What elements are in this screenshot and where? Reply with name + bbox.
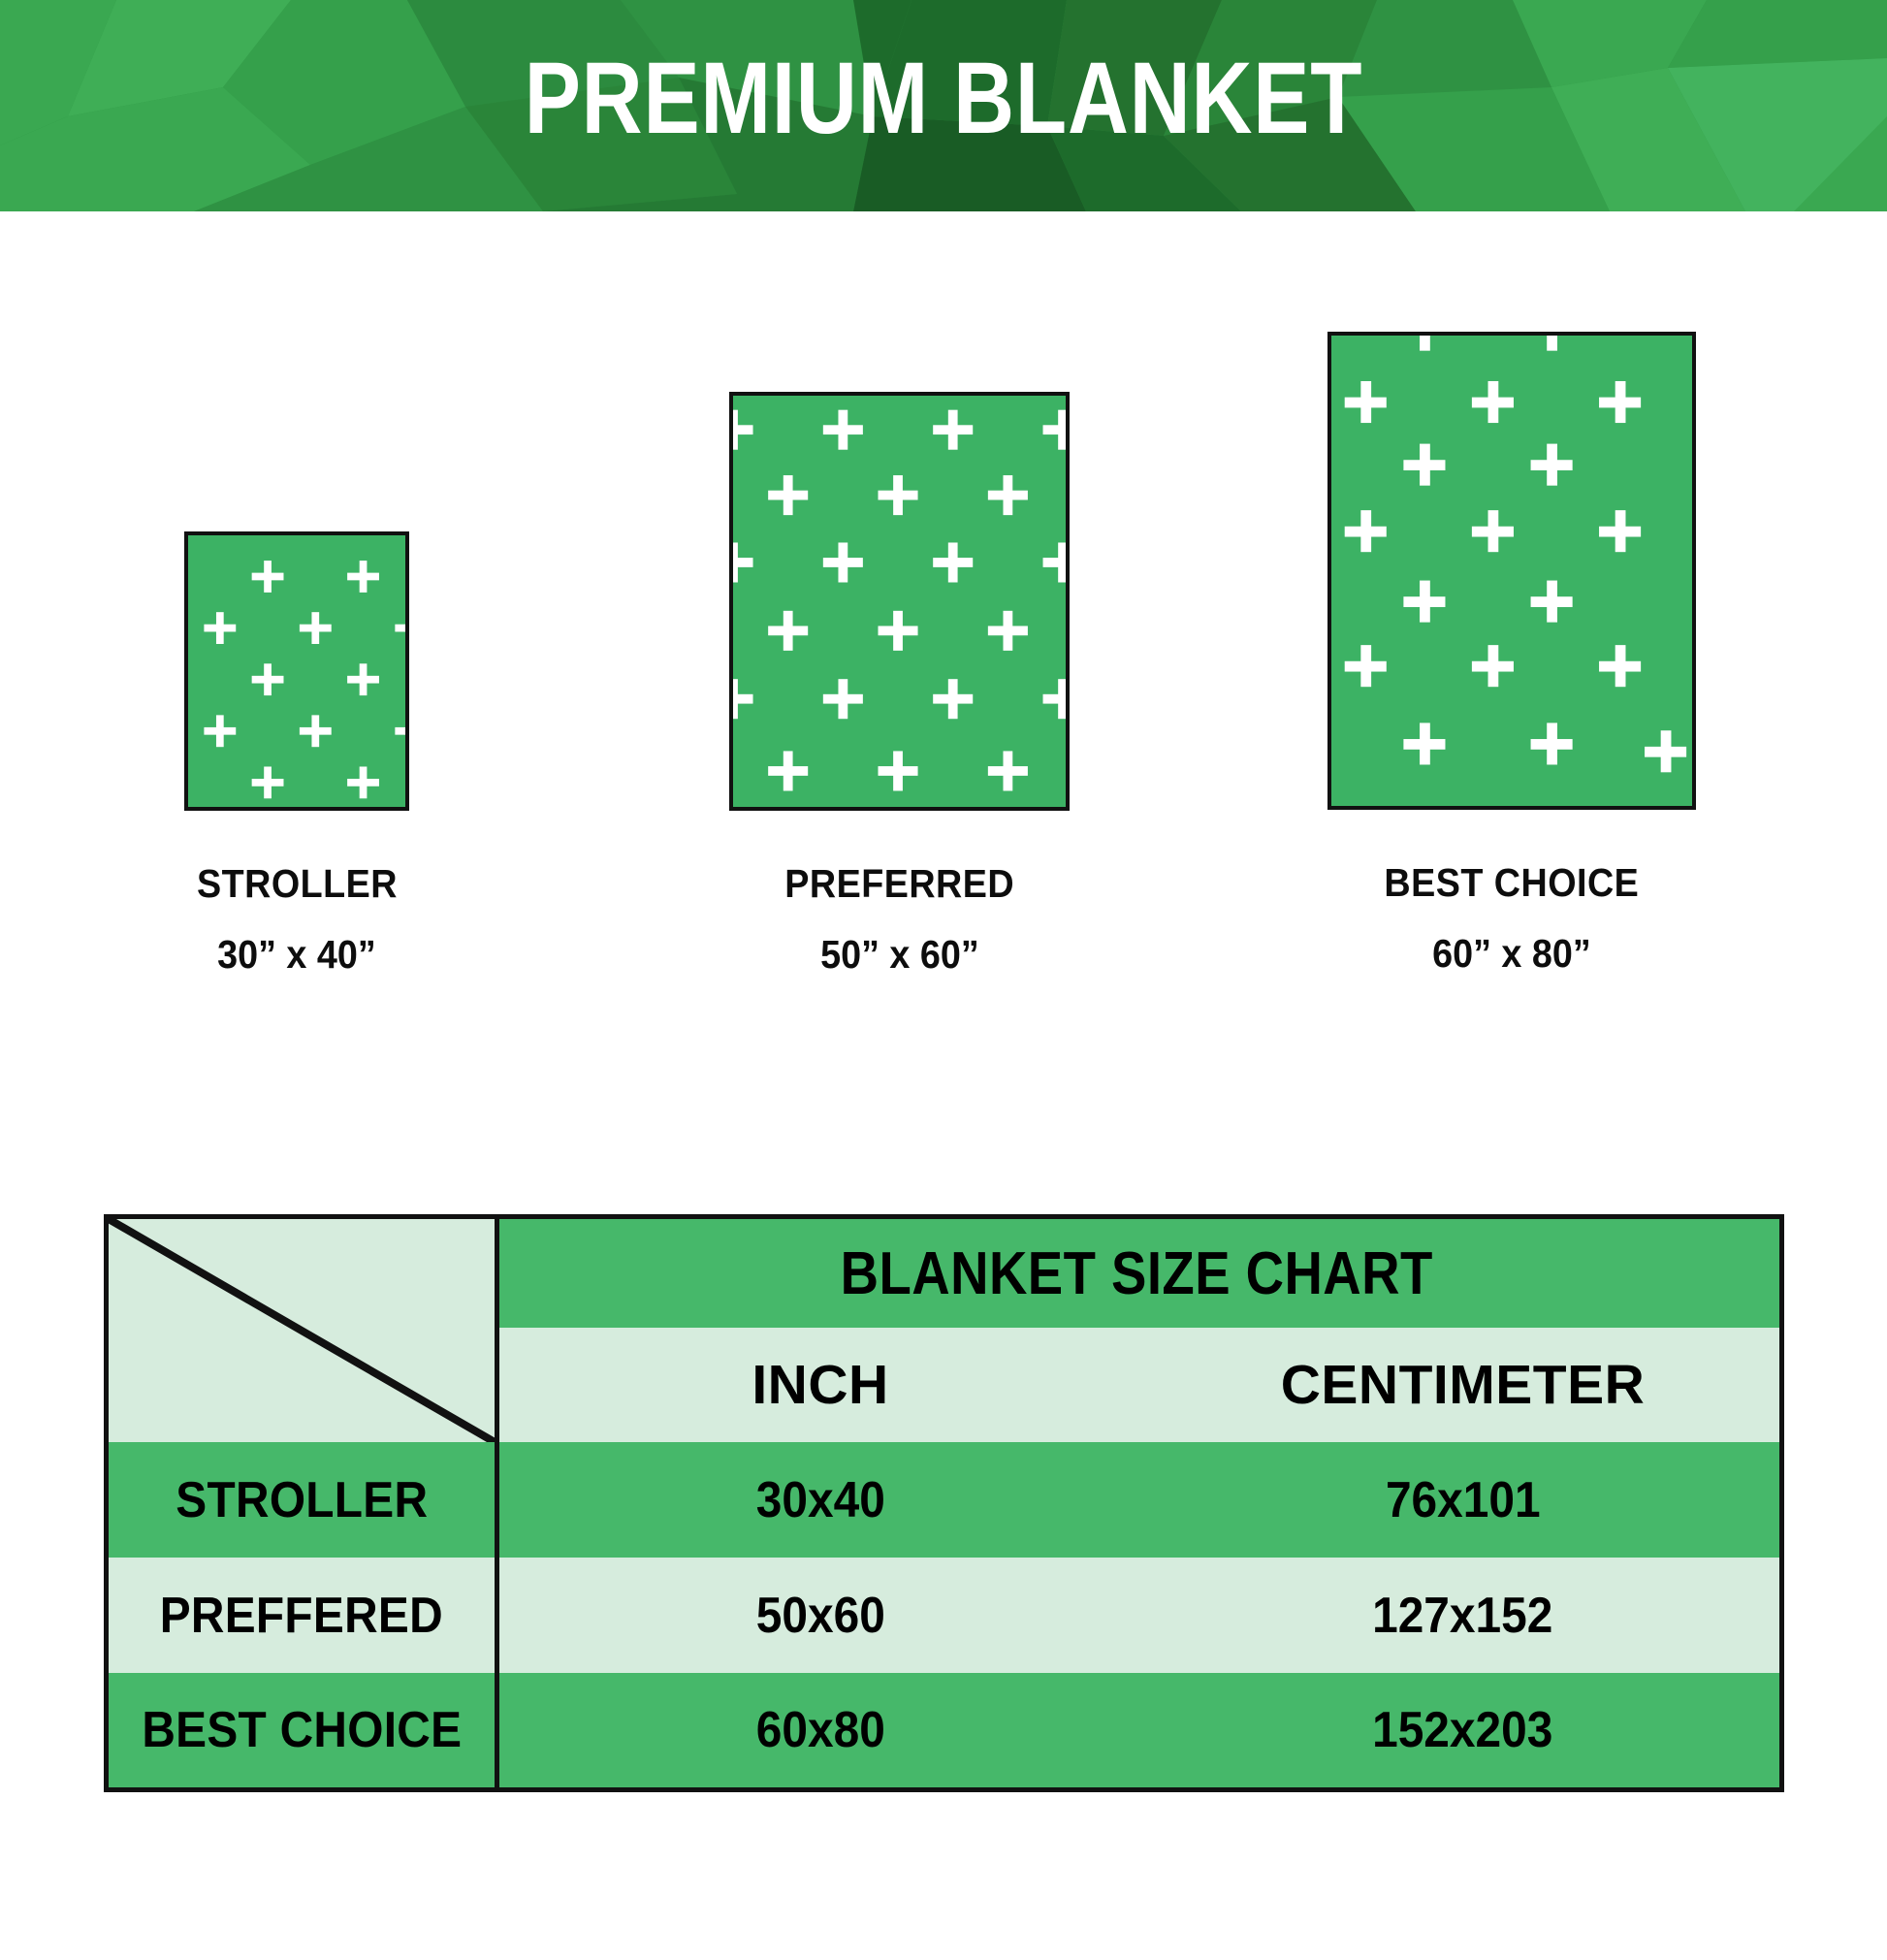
swatch-item-preferred: PREFERRED 50” x 60” (729, 392, 1070, 978)
table-cell-size: STROLLER (176, 1471, 428, 1529)
table-title-cell: BLANKET SIZE CHART (495, 1219, 1779, 1328)
swatch-label-best-choice: BEST CHOICE (1385, 860, 1640, 906)
swatch-dims-preferred: 50” x 60” (820, 932, 979, 978)
page-title: PREMIUM BLANKET (160, 0, 1726, 211)
table-cell-inch: 60x80 (495, 1673, 1146, 1787)
table-cell-centimeter: 127x152 (1146, 1558, 1779, 1673)
table-row: PREFFERED (109, 1558, 495, 1673)
table-cell-centimeter-value: 76x101 (1386, 1471, 1541, 1529)
table-cell-centimeter: 76x101 (1146, 1442, 1779, 1558)
table-header-inch-label: INCH (752, 1353, 888, 1417)
diagonal-divider-icon (109, 1219, 495, 1442)
table-cell-centimeter: 152x203 (1146, 1673, 1779, 1787)
table-cell-inch: 30x40 (495, 1442, 1146, 1558)
plus-cross-pattern-icon (188, 535, 405, 805)
table-cell-size: PREFFERED (160, 1587, 443, 1645)
table-cell-centimeter-value: 152x203 (1372, 1701, 1552, 1759)
table-title: BLANKET SIZE CHART (841, 1239, 1433, 1308)
swatch-row: STROLLER 30” x 40” PREFERRED 50” x (0, 211, 1887, 1191)
table-cell-centimeter-value: 127x152 (1372, 1587, 1552, 1645)
blanket-swatch-stroller (184, 531, 409, 811)
table-cell-inch-value: 30x40 (755, 1471, 884, 1529)
table-row: BEST CHOICE (109, 1673, 495, 1787)
swatch-label-stroller: STROLLER (197, 861, 398, 907)
table-header-inch: INCH (495, 1328, 1146, 1442)
table-header-centimeter: CENTIMETER (1146, 1328, 1779, 1442)
swatch-label-preferred: PREFERRED (784, 861, 1014, 907)
table-cell-inch-value: 50x60 (755, 1587, 884, 1645)
swatch-dims-stroller: 30” x 40” (217, 932, 376, 978)
blanket-size-chart-table: SIZE BLANKET SIZE CHART INCH CENTIMETER … (104, 1214, 1784, 1792)
table-cell-inch: 50x60 (495, 1558, 1146, 1673)
swatch-item-best-choice: BEST CHOICE 60” x 80” (1327, 332, 1696, 977)
plus-cross-pattern-icon (733, 396, 1066, 805)
swatch-item-stroller: STROLLER 30” x 40” (184, 531, 409, 978)
blanket-swatch-preferred (729, 392, 1070, 811)
table-cell-inch-value: 60x80 (755, 1701, 884, 1759)
swatch-dims-best-choice: 60” x 80” (1432, 931, 1591, 977)
table-row: STROLLER (109, 1442, 495, 1558)
blanket-swatch-best-choice (1327, 332, 1696, 810)
plus-cross-pattern-icon (1331, 336, 1692, 804)
table-header-centimeter-label: CENTIMETER (1281, 1353, 1646, 1417)
table-column-divider (495, 1219, 499, 1787)
header-banner: PREMIUM BLANKET (0, 0, 1887, 211)
table-cell-size: BEST CHOICE (142, 1701, 462, 1759)
